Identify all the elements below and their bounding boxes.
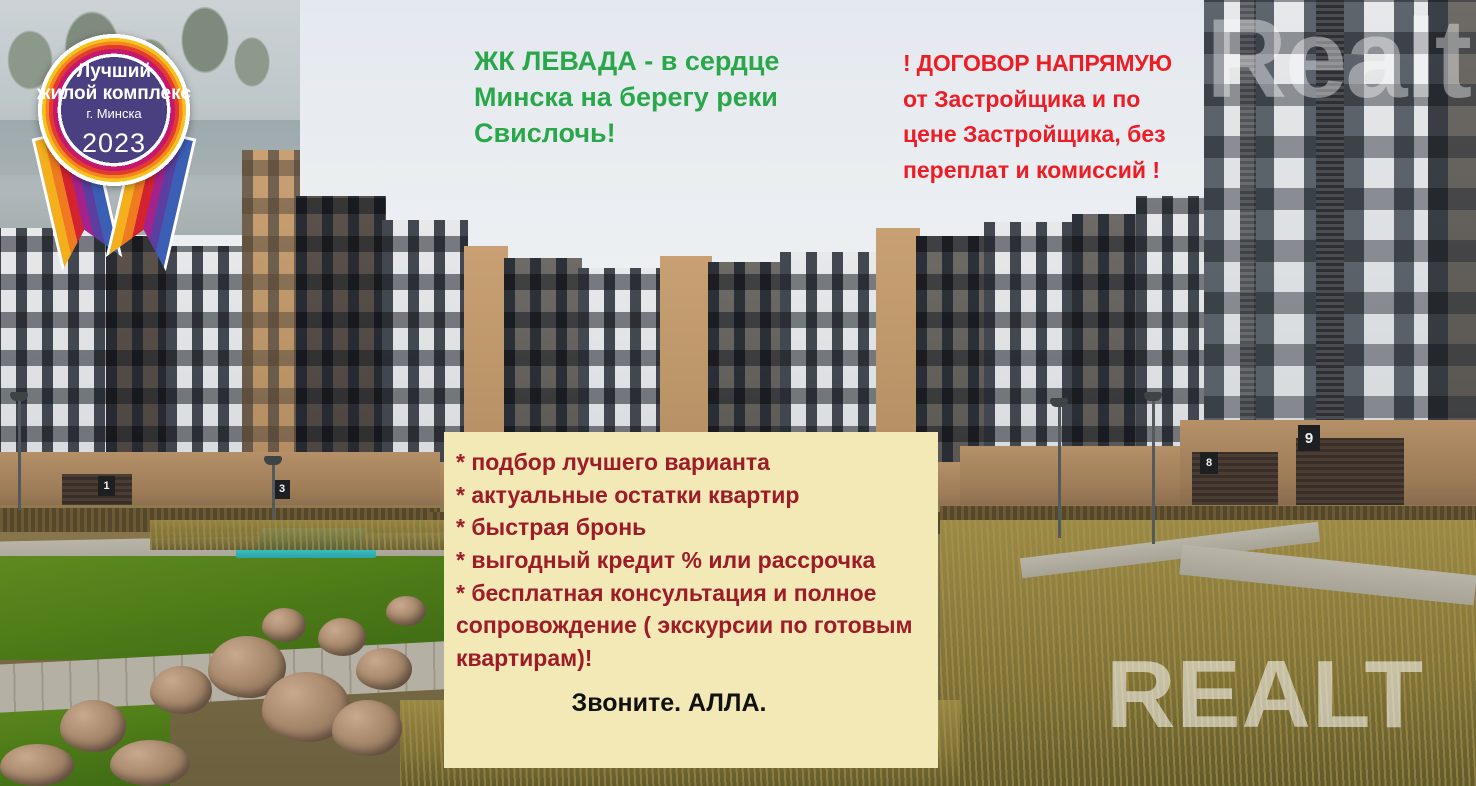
red-headline: ! ДОГОВОР НАПРЯМУЮ от Застройщика и по ц… (903, 46, 1233, 189)
offer-item-5: * бесплатная консультация и полное сопро… (456, 577, 940, 675)
badge-line-2: жилой комплекс (37, 83, 191, 104)
street-lamp-post (1058, 398, 1061, 538)
badge-line-3: г. Минска (86, 107, 141, 122)
green-headline: ЖК ЛЕВАДА - в сердце Минска на берегу ре… (474, 44, 824, 152)
badge-line-1: Лучший (77, 61, 151, 82)
green-headline-line-1: ЖК ЛЕВАДА - в сердце (474, 44, 824, 80)
entrance-number-8: 8 (1200, 452, 1218, 474)
badge-text: Лучший жилой комплекс г. Минска 2023 (18, 14, 210, 206)
offer-item-4: * выгодный кредит % или рассрочка (456, 544, 938, 577)
green-headline-line-3: Свислочь! (474, 116, 824, 152)
realt-watermark-top: Realt (1206, 0, 1470, 123)
award-badge: Лучший жилой комплекс г. Минска 2023 (10, 8, 218, 276)
ornamental-grasses (150, 520, 450, 550)
red-headline-line-1: ! ДОГОВОР НАПРЯМУЮ (903, 46, 1233, 82)
red-headline-line-3: цене Застройщика, без (903, 117, 1233, 153)
red-headline-line-4: переплат и комиссий ! (903, 153, 1233, 189)
realt-watermark-bottom: Realt (1106, 640, 1424, 750)
street-lamp-head (264, 456, 282, 465)
green-headline-line-2: Минска на берегу реки (474, 80, 824, 116)
street-lamp-post (18, 392, 21, 510)
advertisement-image: 1 3 8 9 (0, 0, 1476, 786)
offer-item-3: * быстрая бронь (456, 511, 938, 544)
call-to-action: Звоните. АЛЛА. (456, 689, 938, 718)
street-lamp-head (1050, 398, 1068, 407)
red-headline-line-2: от Застройщика и по (903, 82, 1233, 118)
entrance-number-9: 9 (1298, 425, 1320, 451)
street-lamp-post (1152, 392, 1155, 544)
badge-year: 2023 (82, 128, 146, 158)
street-lamp-head (1144, 392, 1162, 401)
street-lamp-post (272, 456, 275, 520)
offer-item-2: * актуальные остатки квартир (456, 479, 938, 512)
entrance-number-1: 1 (98, 476, 115, 496)
street-lamp-head (10, 392, 28, 401)
offer-item-1: * подбор лучшего варианта (456, 446, 938, 479)
entrance-number-3: 3 (274, 480, 290, 499)
offer-panel: * подбор лучшего варианта * актуальные о… (444, 432, 938, 768)
